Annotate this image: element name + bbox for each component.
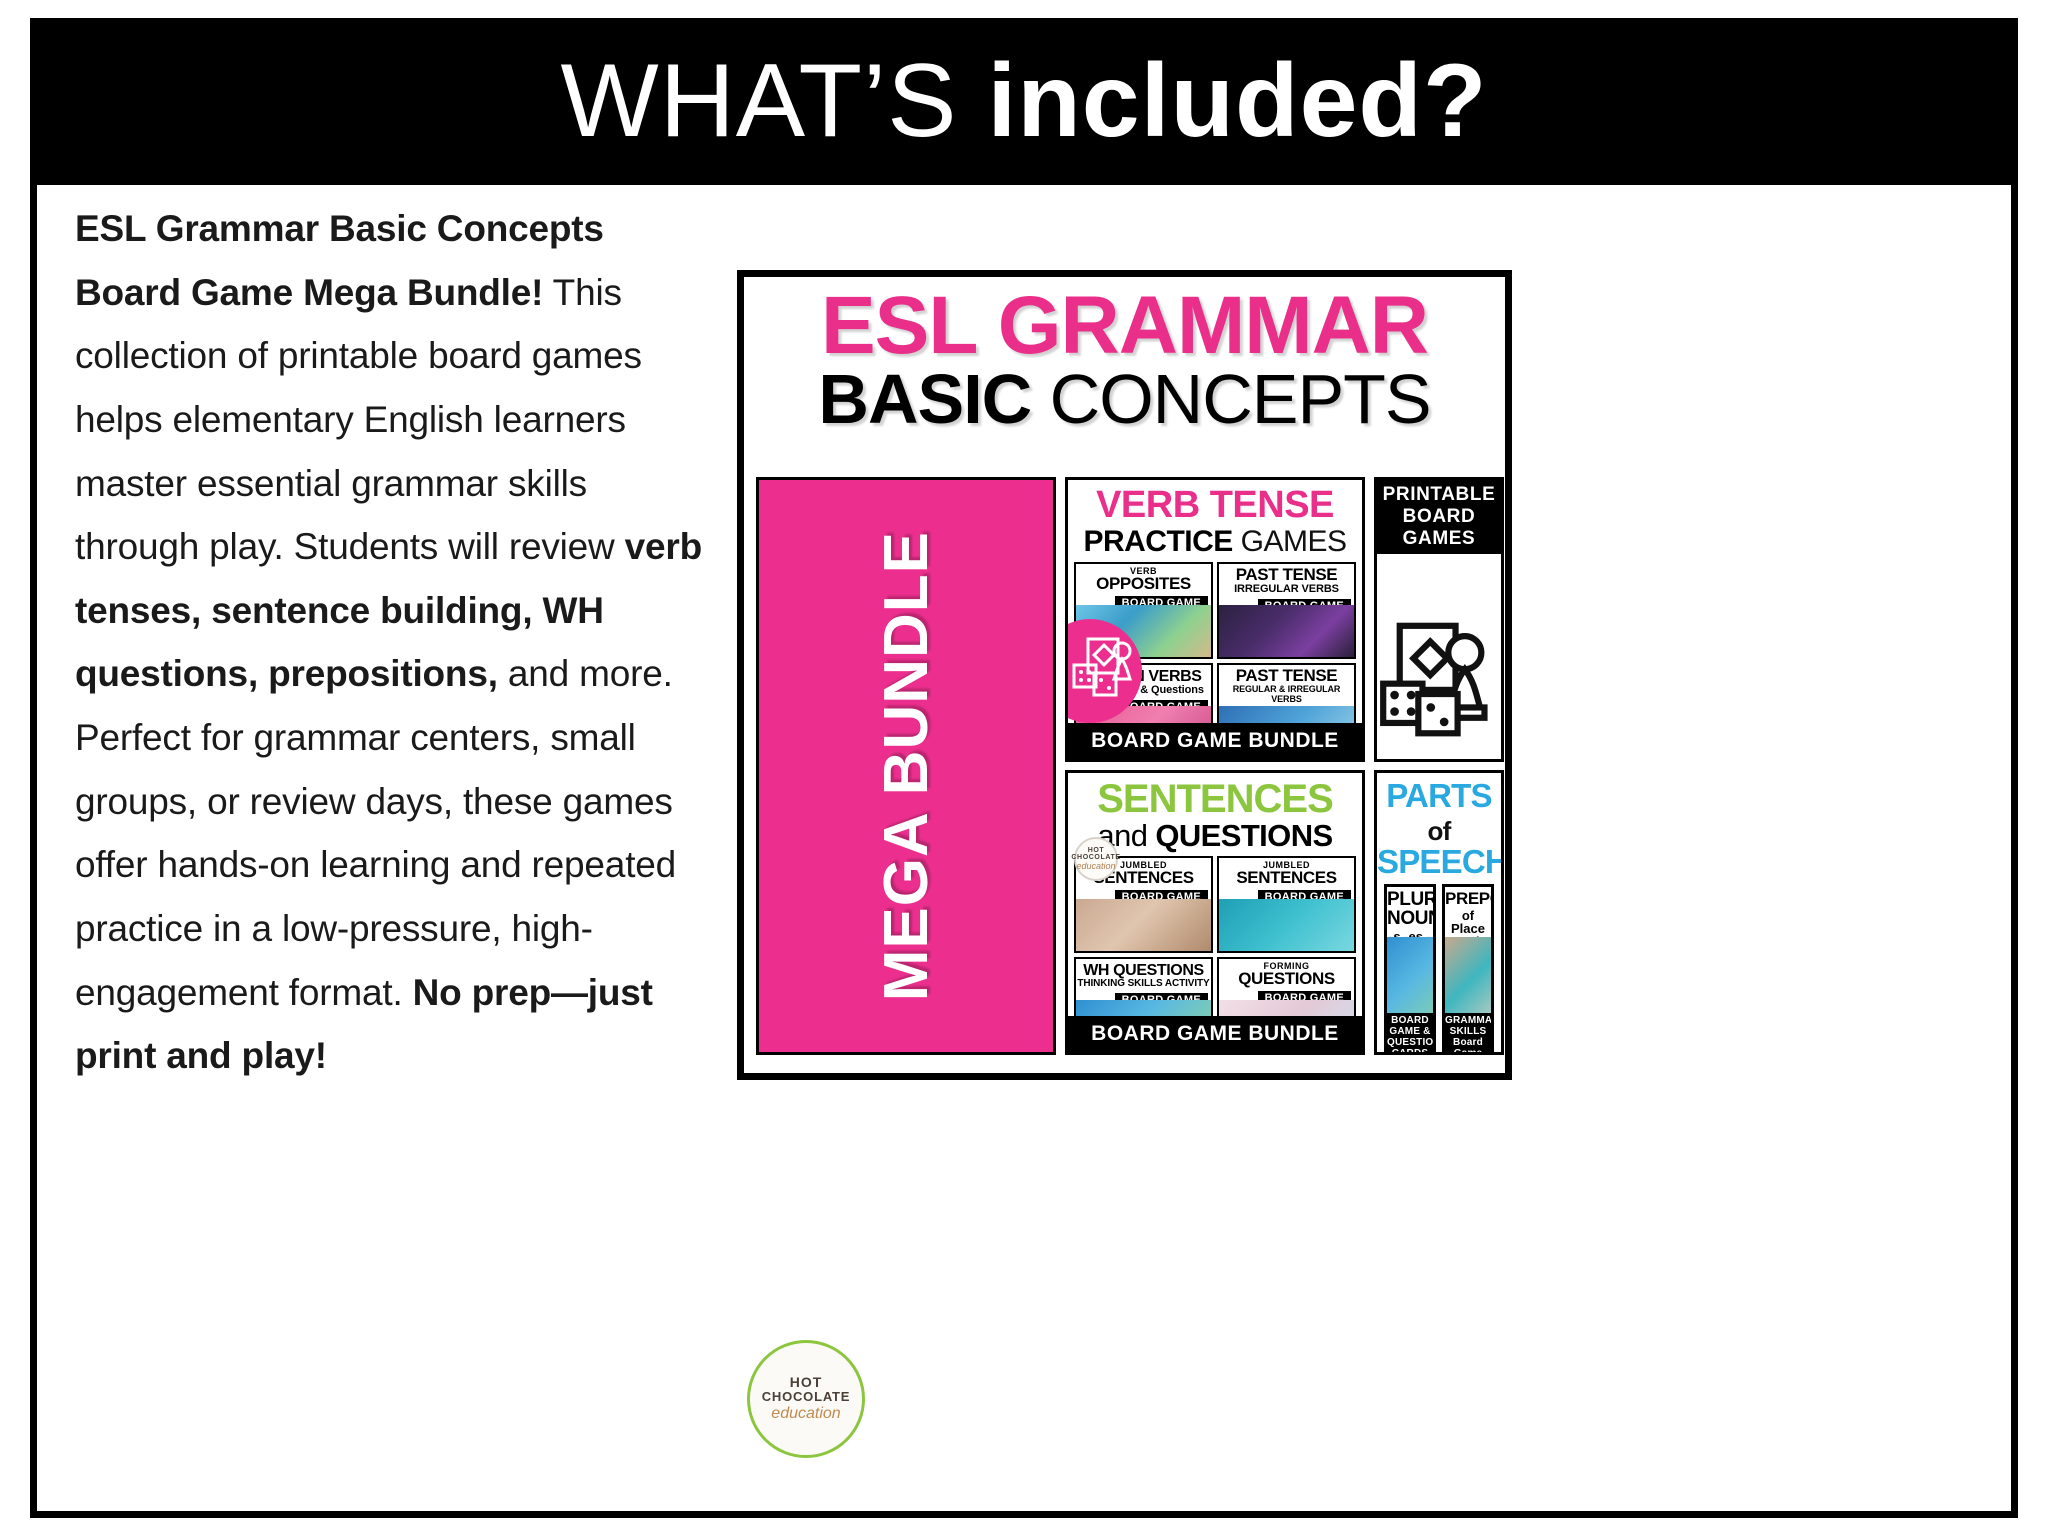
slide-frame: WHAT’S included? ESL Grammar Basic Conce… [30,18,2018,1518]
tile-subtitle: REGULAR & IRREGULAR VERBS [1219,684,1354,704]
cover-title-line1: ESL GRAMMAR [756,287,1493,366]
verb-tense-subheading: PRACTICE GAMES [1068,527,1362,557]
watermark-logo-line2: CHOCOLATE [762,1390,851,1405]
printable-heading: PRINTABLE BOARD GAMES [1377,480,1501,554]
quadrant-parts-of-speech: PARTS of SPEECH PLURAL NOUNS -s -es -ies… [1374,770,1504,1055]
tile-subtitle: THINKING SKILLS ACTIVITY [1076,978,1211,989]
parts-of-speech-heading: PARTS of SPEECH [1377,779,1501,878]
page-title-thin: WHAT’S [561,43,958,159]
verb-tense-footer: BOARD GAME BUNDLE [1068,723,1362,759]
body-area: ESL Grammar Basic Concepts Board Game Me… [37,185,2011,1511]
verb-tense-heading: VERB TENSE [1068,486,1362,524]
watermark-small: HOT CHOCOLATE education [1074,837,1118,881]
tile-photo [1219,605,1354,657]
card-title: PLURAL NOUNS [1387,890,1433,928]
tile-title: SENTENCES [1219,870,1354,886]
page-title-bold: included? [987,43,1487,159]
watermark-logo: HOT CHOCOLATE education [747,1340,865,1458]
tile-jumbled-sentences-2: JUMBLED SENTENCES BOARD GAME [1217,856,1356,953]
watermark-line1: HOT [1088,847,1105,854]
cover-quadrant-grid: VERB TENSE PRACTICE GAMES VERB OPPOSITES… [756,477,1504,1072]
watermark-logo-line1: HOT [790,1374,823,1390]
card-prepositions: PREPOSITIONS of Place and Location BOARD… [1442,884,1494,1055]
watermark-line3: education [1076,862,1115,871]
mega-bundle-label: MEGA BUNDLE [871,531,942,1001]
ps-of: of [1428,816,1451,846]
product-cover-preview: ESL GRAMMAR BASIC CONCEPTS VERB TENSE PR… [737,270,1512,1080]
tile-photo [1076,899,1211,951]
description-part2: and more. Perfect for grammar centers, s… [75,653,676,1012]
cover-title-basic: BASIC [818,360,1031,438]
card-plural-nouns: PLURAL NOUNS -s -es -ies endings BOARD G… [1384,884,1436,1055]
quadrant-printable-board-games: PRINTABLE BOARD GAMES [1374,477,1504,762]
header-band: WHAT’S included? [37,25,2011,185]
cover-title-line2: BASIC CONCEPTS [756,364,1493,435]
game-pieces-icon [1072,637,1134,697]
description-text: ESL Grammar Basic Concepts Board Game Me… [75,197,715,1088]
tile-title: QUESTIONS [1219,971,1354,987]
ps-speech: SPEECH [1377,843,1504,880]
quadrant-verb-tense: VERB TENSE PRACTICE GAMES VERB OPPOSITES… [1065,477,1365,762]
sentences-heading: SENTENCES [1068,779,1362,819]
dice-pawn-card-icon [1377,567,1501,762]
parts-of-speech-cards: PLURAL NOUNS -s -es -ies endings BOARD G… [1377,878,1501,1055]
tile-photo [1219,899,1354,951]
verb-tense-games: GAMES [1241,525,1347,558]
tile-title: WH QUESTIONS [1076,963,1211,978]
card-title: PREPOSITIONS [1445,890,1491,907]
tile-past-tense-irregular: PAST TENSE IRREGULAR VERBS BOARD GAME [1217,562,1356,659]
tile-title: OPPOSITES [1076,576,1211,592]
cover-title-concepts: CONCEPTS [1050,360,1431,438]
mega-bundle-banner: MEGA BUNDLE [756,477,1056,1055]
description-column: ESL Grammar Basic Concepts Board Game Me… [75,197,715,1088]
printable-artwork [1377,554,1501,762]
verb-tense-practice: PRACTICE [1083,525,1232,558]
tile-subtitle: IRREGULAR VERBS [1219,583,1354,595]
tile-title: PAST TENSE [1219,567,1354,583]
page-title: WHAT’S included? [561,49,1488,153]
description-part1: This collection of printable board games… [75,272,642,568]
card-footer: GRAMMAR SKILLS Board Game [1445,1013,1491,1055]
sentences-footer: BOARD GAME BUNDLE [1068,1016,1362,1052]
watermark-logo-line3: education [771,1405,840,1423]
card-footer: BOARD GAME & QUESTION CARDS [1387,1013,1433,1055]
sentences-questions: QUESTIONS [1155,818,1332,853]
quadrant-sentences-questions: SENTENCES and QUESTIONS HOT CHOCOLATE ed… [1065,770,1365,1055]
description-lead: ESL Grammar Basic Concepts Board Game Me… [75,208,604,313]
ps-parts: PARTS [1386,777,1491,814]
tile-title: PAST TENSE [1219,668,1354,684]
